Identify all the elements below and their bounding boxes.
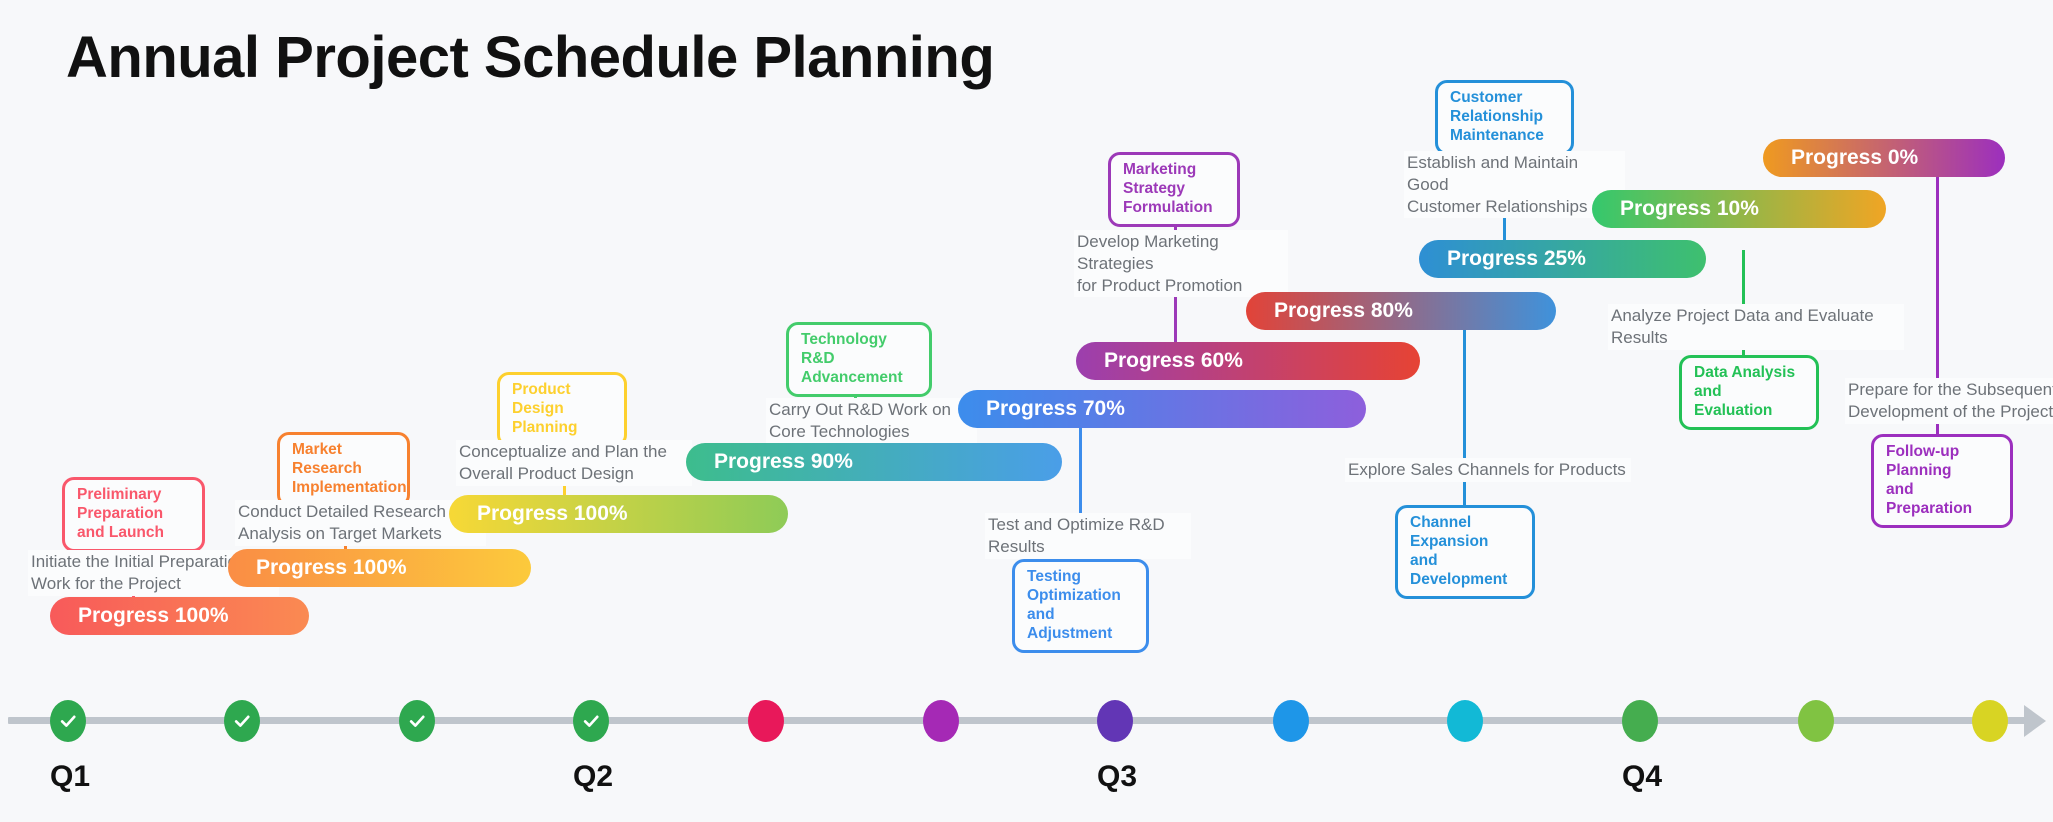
progress-pill-preliminary-preparation[interactable]: Progress 100%: [50, 597, 309, 635]
progress-pill-customer-relationship[interactable]: Progress 25%: [1419, 240, 1706, 278]
node-card-customer-relationship[interactable]: Customer Relationship Maintenance: [1435, 80, 1574, 155]
note-marketing-strategy: Develop Marketing Strategies for Product…: [1074, 230, 1288, 297]
timeline-dot[interactable]: [1972, 700, 2008, 742]
node-card-testing-optimization[interactable]: Testing Optimization and Adjustment: [1012, 559, 1149, 653]
timeline-dot[interactable]: [1622, 700, 1658, 742]
note-follow-up-planning: Prepare for the Subsequent Development o…: [1845, 378, 2053, 424]
node-card-technology-rd[interactable]: Technology R&D Advancement: [786, 322, 932, 397]
page-title: Annual Project Schedule Planning: [66, 24, 994, 91]
note-channel-expansion: Explore Sales Channels for Products: [1345, 458, 1631, 482]
note-testing-optimization: Test and Optimize R&D Results: [985, 513, 1191, 559]
timeline-dot-completed[interactable]: [573, 700, 609, 742]
node-card-marketing-strategy[interactable]: Marketing Strategy Formulation: [1108, 152, 1240, 227]
progress-pill-marketing-strategy[interactable]: Progress 60%: [1076, 342, 1420, 380]
node-card-preliminary-preparation[interactable]: Preliminary Preparation and Launch: [62, 477, 205, 552]
node-card-data-analysis[interactable]: Data Analysis and Evaluation: [1679, 355, 1819, 430]
node-card-follow-up-planning[interactable]: Follow-up Planning and Preparation: [1871, 434, 2013, 528]
timeline-quarter-q4: Q4: [1622, 760, 1662, 794]
progress-pill-channel-expansion[interactable]: Progress 80%: [1246, 292, 1556, 330]
progress-pill-testing-optimization[interactable]: Progress 70%: [958, 390, 1366, 428]
note-market-research: Conduct Detailed Research and Analysis o…: [235, 500, 486, 546]
node-card-channel-expansion[interactable]: Channel Expansion and Development: [1395, 505, 1535, 599]
infographic-canvas: Annual Project Schedule Planning Prelimi…: [0, 0, 2053, 822]
timeline-dot-completed[interactable]: [50, 700, 86, 742]
timeline-quarter-q3: Q3: [1097, 760, 1137, 794]
note-technology-rd: Carry Out R&D Work on Core Technologies: [766, 398, 977, 444]
check-icon: [58, 711, 78, 731]
timeline-quarter-q1: Q1: [50, 760, 90, 794]
timeline-axis-arrow-icon: [2024, 705, 2046, 737]
timeline-dot[interactable]: [1273, 700, 1309, 742]
progress-pill-technology-rd[interactable]: Progress 90%: [686, 443, 1062, 481]
timeline-quarter-q2: Q2: [573, 760, 613, 794]
progress-pill-product-design[interactable]: Progress 100%: [449, 495, 788, 533]
timeline-dot[interactable]: [1447, 700, 1483, 742]
check-icon: [581, 711, 601, 731]
node-card-market-research[interactable]: Market Research Implementation: [277, 432, 410, 507]
timeline-dot[interactable]: [748, 700, 784, 742]
timeline-dot[interactable]: [923, 700, 959, 742]
progress-pill-follow-up-planning[interactable]: Progress 0%: [1763, 139, 2005, 177]
node-card-product-design[interactable]: Product Design Planning: [497, 372, 627, 447]
timeline-dot[interactable]: [1097, 700, 1133, 742]
note-product-design: Conceptualize and Plan the Overall Produ…: [456, 440, 692, 486]
progress-pill-data-analysis[interactable]: Progress 10%: [1592, 190, 1886, 228]
note-data-analysis: Analyze Project Data and Evaluate Result…: [1608, 304, 1904, 350]
timeline-dot[interactable]: [1798, 700, 1834, 742]
timeline-dot-completed[interactable]: [399, 700, 435, 742]
progress-pill-market-research[interactable]: Progress 100%: [228, 549, 531, 587]
timeline-axis: [8, 717, 2028, 724]
check-icon: [232, 711, 252, 731]
timeline-dot-completed[interactable]: [224, 700, 260, 742]
check-icon: [407, 711, 427, 731]
